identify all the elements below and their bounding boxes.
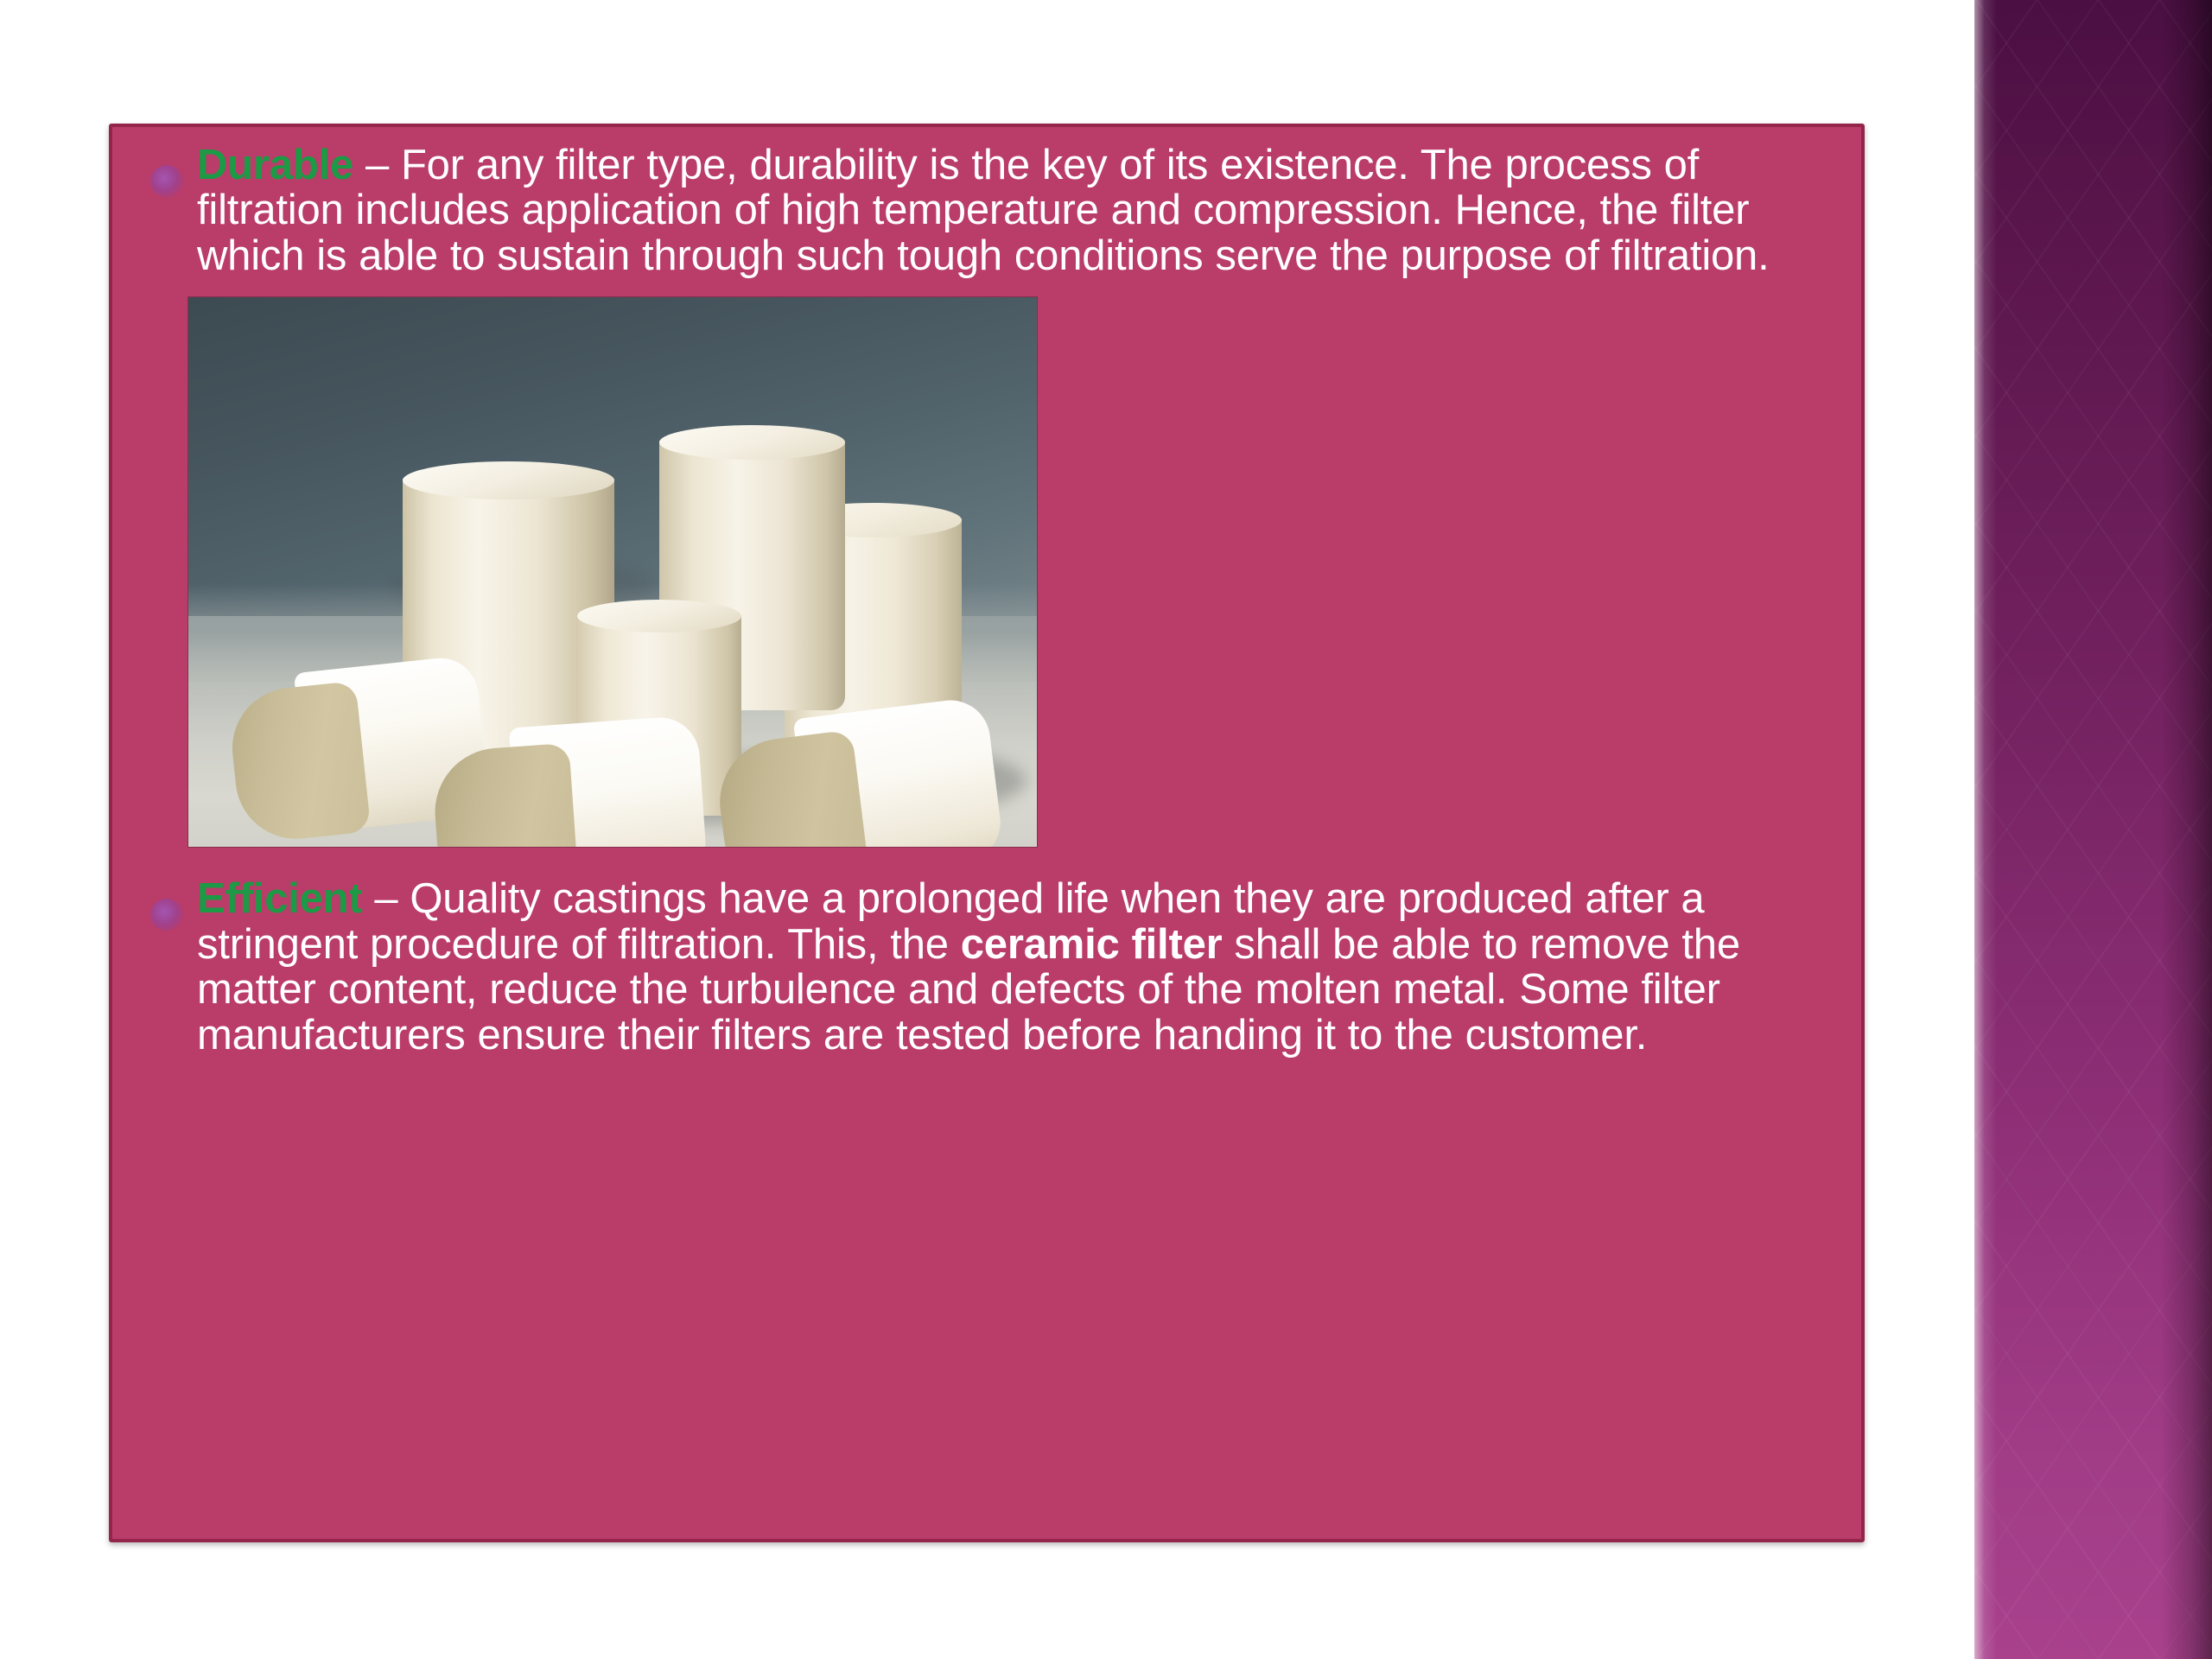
slide-canvas: Durable – For any filter type, durabilit… xyxy=(0,0,2212,1659)
decorative-side-band xyxy=(1974,0,2212,1659)
ceramic-honeycomb-filters-photo xyxy=(188,297,1037,847)
circle-bullet-icon xyxy=(150,899,183,931)
photo-subjects xyxy=(188,297,1037,847)
ceramic-d-block-centre xyxy=(429,715,709,848)
circle-bullet-icon xyxy=(150,165,183,198)
bullet-item-efficient: Efficient – Quality castings have a prol… xyxy=(150,876,1823,1058)
ceramic-d-block-right xyxy=(710,696,1007,848)
bullet-text-efficient: Efficient – Quality castings have a prol… xyxy=(197,876,1823,1058)
keyword-efficient: Efficient xyxy=(197,875,363,922)
paragraph-spacer xyxy=(150,847,1823,876)
emphasis-ceramic-filter: ceramic filter xyxy=(961,921,1223,968)
d-block-honeycomb-face xyxy=(713,730,871,848)
keyword-durable: Durable xyxy=(197,142,353,188)
cylinder-top-face xyxy=(659,425,845,460)
cylinder-top-face xyxy=(403,461,614,499)
content-box: Durable – For any filter type, durabilit… xyxy=(109,124,1865,1542)
bullet-body-durable: For any filter type, durability is the k… xyxy=(197,142,1770,279)
bullet-item-durable: Durable – For any filter type, durabilit… xyxy=(150,143,1823,278)
side-band-right-shadow xyxy=(2160,0,2212,1659)
bullet-text-durable: Durable – For any filter type, durabilit… xyxy=(197,143,1823,278)
side-band-left-highlight xyxy=(1974,0,1997,1659)
d-block-honeycomb-face xyxy=(226,681,371,845)
dash-separator-2: – xyxy=(363,875,410,922)
d-block-honeycomb-face xyxy=(431,743,580,847)
cylinder-top-face xyxy=(577,600,741,632)
dash-separator-1: – xyxy=(353,142,401,188)
